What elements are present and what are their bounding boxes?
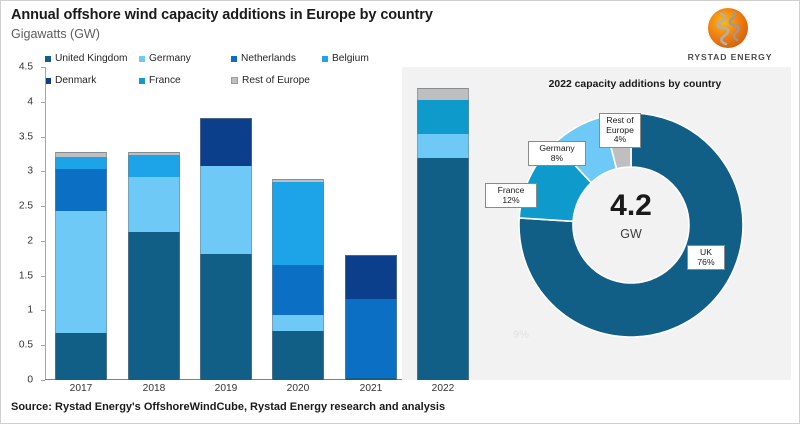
chart-figure: Annual offshore wind capacity additions …: [0, 0, 800, 424]
y-tick-label: 3: [27, 166, 33, 177]
legend-swatch-germany: [139, 56, 145, 62]
bar-segment-united-kingdom[interactable]: [200, 254, 252, 380]
y-tick-label: 0.5: [19, 340, 33, 351]
y-tick-label: 1: [27, 305, 33, 316]
brand-name: RYSTAD ENERGY: [675, 52, 785, 62]
donut-panel-title: 2022 capacity additions by country: [479, 79, 791, 90]
y-tick-label: 0: [27, 375, 33, 386]
bar-segment-rest-of-europe[interactable]: [128, 152, 180, 155]
brand-logo: RYSTAD ENERGY: [675, 5, 785, 69]
legend-label-united-kingdom: United Kingdom: [55, 53, 128, 64]
bar-group-2022[interactable]: [417, 67, 469, 380]
donut-center-unit: GW: [511, 227, 751, 241]
donut-chart: 4.2 GW France 12% Germany 8% Rest of Eur…: [511, 105, 759, 353]
x-tick-label-2022: 2022: [417, 383, 469, 394]
page-subtitle: Gigawatts (GW): [11, 27, 100, 41]
donut-callout-uk: UK 76%: [687, 245, 725, 270]
legend-item-germany[interactable]: Germany: [139, 53, 191, 64]
bar-segment-denmark[interactable]: [345, 255, 397, 299]
y-tick-mark: [41, 380, 45, 381]
legend-swatch-belgium: [322, 56, 328, 62]
plot-area: [45, 67, 479, 380]
x-tick-label-2017: 2017: [55, 383, 107, 394]
bar-group-2018[interactable]: [128, 67, 180, 380]
bar-segment-denmark[interactable]: [200, 118, 252, 165]
bar-segment-united-kingdom[interactable]: [128, 232, 180, 380]
bar-segment-france[interactable]: [417, 100, 469, 135]
bar-segment-germany[interactable]: [417, 134, 469, 158]
bar-group-2019[interactable]: [200, 67, 252, 380]
y-tick-label: 4: [27, 96, 33, 107]
legend-swatch-netherlands: [231, 56, 237, 62]
donut-callout-france: France 12%: [485, 183, 537, 208]
bar-segment-germany[interactable]: [200, 166, 252, 254]
bar-series-container: [45, 67, 479, 380]
x-axis-labels: 201720182019202020212022: [45, 383, 479, 399]
page-title: Annual offshore wind capacity additions …: [11, 7, 433, 23]
x-tick-label-2020: 2020: [272, 383, 324, 394]
bar-segment-belgium[interactable]: [272, 182, 324, 264]
x-tick-label-2018: 2018: [128, 383, 180, 394]
y-tick-label: 1.5: [19, 270, 33, 281]
bar-segment-united-kingdom[interactable]: [417, 158, 469, 380]
donut-callout-germany: Germany 8%: [528, 141, 586, 166]
legend-item-united-kingdom[interactable]: United Kingdom: [45, 53, 128, 64]
donut-callout-rest-of-europe: Rest of Europe 4%: [599, 113, 641, 148]
bar-segment-germany[interactable]: [55, 211, 107, 333]
y-tick-label: 4.5: [19, 62, 33, 73]
bar-segment-netherlands[interactable]: [345, 299, 397, 378]
bar-segment-belgium[interactable]: [55, 157, 107, 169]
x-tick-label-2021: 2021: [345, 383, 397, 394]
donut-center-value: 4.2: [511, 191, 751, 221]
y-axis-labels: 00.511.522.533.544.5: [1, 67, 41, 380]
legend-item-netherlands[interactable]: Netherlands: [231, 53, 296, 64]
globe-icon: [705, 5, 751, 51]
bar-segment-germany[interactable]: [128, 177, 180, 232]
bar-segment-united-kingdom[interactable]: [272, 331, 324, 380]
bar-segment-netherlands[interactable]: [272, 265, 324, 316]
bar-segment-netherlands[interactable]: [55, 169, 107, 211]
y-tick-label: 3.5: [19, 131, 33, 142]
bar-segment-germany[interactable]: [272, 315, 324, 330]
bar-segment-rest-of-europe[interactable]: [417, 88, 469, 100]
bar-group-2017[interactable]: [55, 67, 107, 380]
bar-segment-united-kingdom[interactable]: [55, 333, 107, 380]
bar-segment-rest-of-europe[interactable]: [55, 152, 107, 158]
bar-segment-belgium[interactable]: [128, 155, 180, 177]
bar-group-2021[interactable]: [345, 67, 397, 380]
x-tick-label-2019: 2019: [200, 383, 252, 394]
legend-label-netherlands: Netherlands: [241, 53, 296, 64]
legend-swatch-united-kingdom: [45, 56, 51, 62]
bar-group-2020[interactable]: [272, 67, 324, 380]
y-tick-label: 2: [27, 235, 33, 246]
legend-item-belgium[interactable]: Belgium: [322, 53, 369, 64]
y-tick-label: 2.5: [19, 201, 33, 212]
source-note: Source: Rystad Energy's OffshoreWindCube…: [11, 401, 445, 413]
donut-panel: 2022 capacity additions by country 9% 4.…: [479, 67, 791, 380]
legend-label-germany: Germany: [149, 53, 191, 64]
legend-label-belgium: Belgium: [332, 53, 369, 64]
bar-segment-rest-of-europe[interactable]: [272, 179, 324, 182]
bar-segment-united-kingdom[interactable]: [345, 378, 397, 380]
